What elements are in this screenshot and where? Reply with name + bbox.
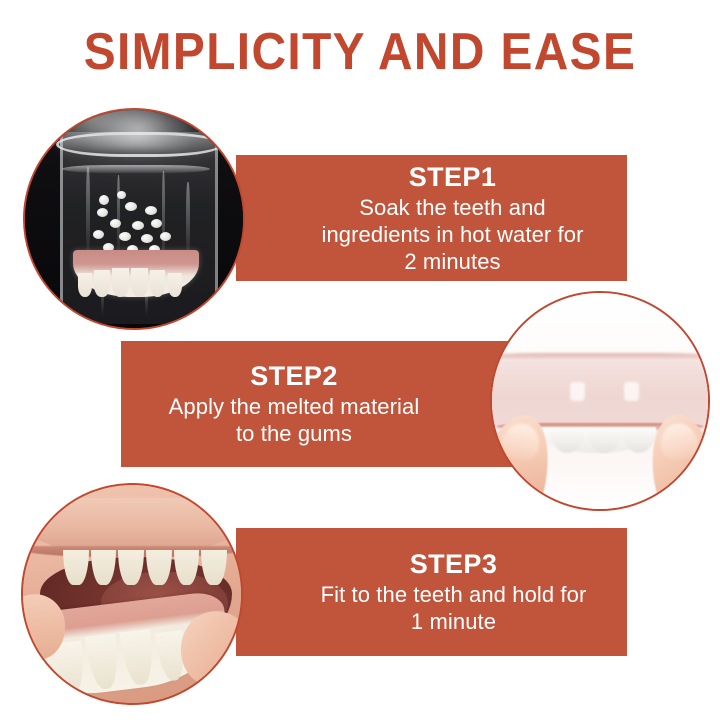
p1-glass-streak: [86, 167, 90, 259]
p2-tooth-highlight: [570, 382, 585, 401]
step-2-body-line-2: to the gums: [236, 420, 352, 447]
p2-fingernail: [657, 420, 700, 463]
step-3-title: STEP3: [410, 549, 498, 580]
p3-upper-tooth: [146, 550, 172, 585]
step-1-photo: [23, 108, 245, 330]
applying-material-image: [492, 293, 708, 509]
infographic-page: SIMPLICITY AND EASE STEP1 Soak the teeth…: [0, 0, 720, 720]
p3-upper-tooth: [174, 550, 200, 585]
p1-ingredient-bead: [93, 230, 104, 239]
p1-denture-tooth: [78, 273, 92, 298]
p1-denture-tooth: [168, 273, 182, 298]
p1-steam: [86, 108, 191, 149]
step-3-photo: [21, 483, 243, 705]
step-3-body-line-2: 1 minute: [411, 608, 496, 635]
p3-upper-tooth: [118, 550, 144, 585]
p1-denture-tooth: [150, 270, 165, 298]
p1-denture-tooth: [94, 270, 109, 298]
fitting-teeth-image: [23, 485, 241, 703]
p1-denture-tooth: [112, 268, 128, 298]
p3-denture-tooth: [119, 628, 156, 685]
step-1-body-line-2: ingredients in hot water for: [321, 221, 583, 248]
p3-upper-tooth: [63, 550, 89, 585]
p1-ingredient-bead: [145, 206, 157, 215]
p2-fingernail: [500, 420, 543, 463]
p3-upper-tooth: [91, 550, 117, 585]
p1-ingredient-bead: [110, 219, 121, 228]
p2-tooth-highlight: [624, 382, 639, 401]
p1-water-line: [62, 165, 210, 174]
p3-upper-teeth: [62, 550, 228, 585]
p3-denture-tooth: [85, 633, 122, 690]
p3-upper-tooth: [201, 550, 227, 585]
step-1-body-line-1: Soak the teeth and: [359, 194, 546, 221]
step-3-banner: STEP3 Fit to the teeth and hold for 1 mi…: [236, 528, 627, 656]
step-1-body-line-3: 2 minutes: [404, 248, 500, 275]
p1-ingredient-bead: [141, 234, 153, 243]
step-1-title: STEP1: [409, 162, 497, 193]
step-2-photo: [490, 291, 710, 511]
glass-of-water-image: [25, 110, 243, 328]
step-2-title: STEP2: [250, 361, 338, 392]
p1-ingredient-bead: [125, 202, 137, 211]
p1-ingredient-bead: [132, 221, 144, 230]
p1-glass-streak: [117, 175, 120, 258]
step-1-banner: STEP1 Soak the teeth and ingredients in …: [236, 155, 627, 281]
step-2-banner: STEP2 Apply the melted material to the g…: [121, 341, 513, 467]
page-title: SIMPLICITY AND EASE: [29, 22, 691, 82]
p1-denture-tooth: [131, 268, 147, 298]
p1-ingredient-bead: [117, 191, 126, 199]
step-3-body-line-1: Fit to the teeth and hold for: [321, 581, 587, 608]
p1-ingredient-bead: [97, 208, 108, 217]
step-2-body-line-1: Apply the melted material: [169, 393, 420, 420]
p1-ingredient-bead: [119, 232, 131, 241]
